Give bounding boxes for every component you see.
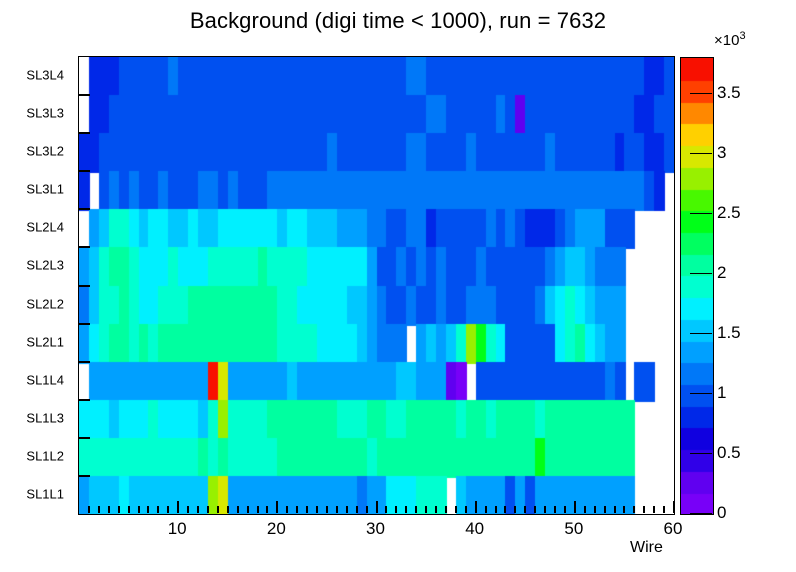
x-axis-tick (554, 506, 556, 513)
colorbar-exponent: ×103 (714, 30, 746, 49)
colorbar-exponent-power: 3 (739, 30, 745, 42)
x-axis-tick (455, 506, 457, 513)
y-axis-tick-label: SL3L3 (26, 106, 64, 121)
x-axis-tick (574, 501, 576, 513)
x-axis-tick (604, 506, 606, 513)
x-axis-tick (88, 506, 90, 513)
x-axis-tick (544, 506, 546, 513)
x-axis-tick (465, 506, 467, 513)
y-axis-tick (78, 132, 90, 134)
x-axis-tick-label: 40 (465, 519, 484, 539)
x-axis-tick (504, 506, 506, 513)
x-axis-tick (336, 506, 338, 513)
x-axis-tick (157, 506, 159, 513)
x-axis-tick (584, 506, 586, 513)
x-axis-tick (524, 506, 526, 513)
x-axis-tick (128, 506, 130, 513)
x-axis-tick (395, 506, 397, 513)
x-axis: 102030405060 (0, 515, 796, 541)
y-axis-tick (78, 361, 90, 363)
x-axis-tick (197, 506, 199, 513)
y-axis-tick-label: SL3L4 (26, 68, 64, 83)
x-axis-tick (475, 501, 477, 513)
x-axis-tick (485, 506, 487, 513)
colorbar-tick-label: 3.5 (717, 83, 741, 103)
x-axis-tick (564, 506, 566, 513)
x-axis-tick (415, 506, 417, 513)
x-axis-tick (217, 506, 219, 513)
colorbar-exponent-base: ×10 (714, 32, 739, 49)
y-axis-tick (78, 285, 90, 287)
colorbar-ticks: 00.511.522.533.5 (680, 57, 770, 513)
x-axis-tick (138, 506, 140, 513)
y-axis-tick (78, 208, 90, 210)
colorbar-tick-label: 2 (717, 263, 726, 283)
x-axis-tick (346, 506, 348, 513)
colorbar-tick-label: 2.5 (717, 203, 741, 223)
colorbar-tick (690, 513, 712, 514)
x-axis-tick (514, 506, 516, 513)
y-axis: SL3L4SL3L3SL3L2SL3L1SL2L4SL2L3SL2L2SL2L1… (0, 56, 74, 513)
colorbar-tick (690, 273, 712, 274)
chart-title: Background (digi time < 1000), run = 763… (0, 8, 796, 34)
y-axis-tick-label: SL1L1 (26, 486, 64, 501)
x-axis-tick (653, 506, 655, 513)
x-axis-tick-label: 30 (366, 519, 385, 539)
colorbar-tick (690, 453, 712, 454)
y-axis-tick (78, 475, 90, 477)
x-axis-tick (118, 506, 120, 513)
x-axis-tick (594, 506, 596, 513)
x-axis-tick (108, 506, 110, 513)
colorbar-tick (690, 93, 712, 94)
y-axis-tick (78, 94, 90, 96)
y-axis-tick (78, 323, 90, 325)
x-axis-tick-label: 60 (664, 519, 683, 539)
x-axis-tick (187, 506, 189, 513)
y-axis-tick (78, 437, 90, 439)
x-axis-tick (366, 506, 368, 513)
x-axis-tick (326, 506, 328, 513)
x-axis-tick (207, 506, 209, 513)
colorbar-tick-label: 0 (717, 503, 726, 523)
x-axis-tick (257, 506, 259, 513)
y-axis-tick-label: SL3L2 (26, 144, 64, 159)
x-axis-tick (237, 506, 239, 513)
chart-canvas: Background (digi time < 1000), run = 763… (0, 0, 796, 572)
x-axis-tick (495, 506, 497, 513)
x-axis-tick (227, 506, 229, 513)
x-axis-tick (147, 506, 149, 513)
heatmap-plot-area (78, 56, 675, 515)
colorbar-tick-label: 1 (717, 383, 726, 403)
colorbar-tick (690, 393, 712, 394)
y-axis-tick (78, 399, 90, 401)
x-axis-tick (247, 506, 249, 513)
y-axis-tick-label: SL2L1 (26, 334, 64, 349)
x-axis-tick (296, 506, 298, 513)
x-axis-tick (633, 506, 635, 513)
x-axis-tick (266, 506, 268, 513)
x-axis-tick (673, 501, 675, 513)
y-axis-tick-label: SL1L4 (26, 372, 64, 387)
y-axis-tick (78, 246, 90, 248)
x-axis-tick (385, 506, 387, 513)
x-axis-tick (623, 506, 625, 513)
heatmap-cells (79, 57, 674, 514)
x-axis-tick-label: 10 (168, 519, 187, 539)
x-axis-tick-label: 50 (564, 519, 583, 539)
colorbar-tick (690, 153, 712, 154)
x-axis-tick (643, 506, 645, 513)
x-axis-tick (405, 506, 407, 513)
x-axis-tick (316, 506, 318, 513)
y-axis-tick-label: SL1L2 (26, 448, 64, 463)
x-axis-tick (376, 501, 378, 513)
x-axis-tick (425, 506, 427, 513)
x-axis-tick (286, 506, 288, 513)
y-axis-tick-label: SL1L3 (26, 410, 64, 425)
y-axis-tick-label: SL2L2 (26, 296, 64, 311)
x-axis-tick-label: 20 (267, 519, 286, 539)
colorbar-tick (690, 333, 712, 334)
x-axis-tick (663, 506, 665, 513)
x-axis-tick (276, 501, 278, 513)
colorbar-tick-label: 1.5 (717, 323, 741, 343)
y-axis-tick-label: SL3L1 (26, 182, 64, 197)
colorbar-tick-label: 3 (717, 143, 726, 163)
x-axis-tick (445, 506, 447, 513)
x-axis-tick (167, 506, 169, 513)
y-axis-tick-label: SL2L4 (26, 220, 64, 235)
colorbar-tick-label: 0.5 (717, 443, 741, 463)
x-axis-tick (614, 506, 616, 513)
x-axis-title: Wire (630, 539, 663, 557)
y-axis-tick-label: SL2L3 (26, 258, 64, 273)
x-axis-tick (177, 501, 179, 513)
x-axis-tick (534, 506, 536, 513)
x-axis-tick (435, 506, 437, 513)
x-axis-tick (356, 506, 358, 513)
x-axis-tick (306, 506, 308, 513)
colorbar-tick (690, 213, 712, 214)
y-axis-tick (78, 170, 90, 172)
x-axis-tick (98, 506, 100, 513)
